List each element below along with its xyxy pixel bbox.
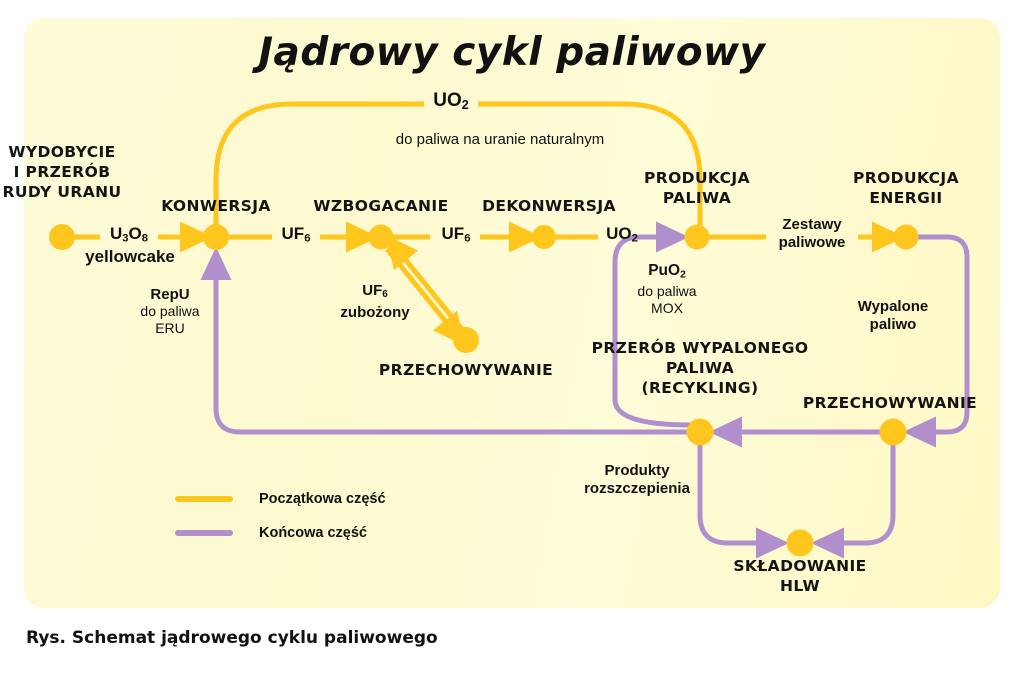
stage-line: PRZERÓB WYPALONEGO [590, 338, 810, 358]
stage-label-fuel-fab: PRODUKCJA PALIWA [627, 168, 767, 208]
node-reprocessing[interactable] [687, 419, 714, 446]
node-power-gen[interactable] [894, 225, 919, 250]
flow-label-uo2-top-sub: do paliwa na uranie naturalnym [330, 131, 670, 148]
flow-label-uo2-top: UO2 [424, 92, 478, 114]
stage-line: I PRZERÓB [0, 162, 142, 182]
stage-line: ENERGII [836, 188, 976, 208]
flow-label-uf6-b: UF6 [432, 225, 480, 247]
label-line: do paliwa [617, 283, 717, 300]
edge-reprocessing-hlw [700, 444, 772, 543]
legend-label-back-end: Końcowa część [259, 525, 367, 541]
stage-label-power-gen: PRODUKCJA ENERGII [836, 168, 976, 208]
node-enrichment[interactable] [369, 225, 394, 250]
legend-label-front-end: Początkowa część [259, 491, 386, 507]
stage-label-deconversion: DEKONWERSJA [474, 196, 624, 216]
label-line: MOX [617, 300, 717, 317]
stage-line: RUDY URANU [0, 182, 142, 202]
stage-line: PRODUKCJA [836, 168, 976, 188]
label-line: do paliwa [122, 303, 218, 320]
flow-label-fuel-assemblies: Zestawy paliwowe [766, 216, 858, 252]
flow-label-fission-products: Produkty rozszczepienia [566, 462, 708, 498]
node-hlw-disposal[interactable] [787, 530, 814, 557]
stage-label-reprocessing: PRZERÓB WYPALONEGO PALIWA (RECYKLING) [590, 338, 810, 398]
stage-line: PALIWA [627, 188, 767, 208]
edge-sfstorage-hlw [828, 444, 893, 543]
stage-label-mining: WYDOBYCIE I PRZERÓB RUDY URANU [0, 142, 142, 202]
label-line: rozszczepienia [566, 480, 708, 498]
legend: Początkowa część Końcowa część [175, 482, 386, 550]
legend-item-back-end: Końcowa część [175, 516, 386, 550]
label-line: Produkty [566, 462, 708, 480]
label-line: Zestawy [766, 216, 858, 234]
legend-item-front-end: Początkowa część [175, 482, 386, 516]
label-line: paliwo [835, 316, 951, 334]
node-deconversion[interactable] [532, 225, 556, 249]
flow-label-puo2: PuO2 do paliwa MOX [617, 262, 717, 317]
flow-label-uf6-depleted: UF6 zubożony [330, 282, 420, 322]
stage-line: PRZECHOWYWANIE [800, 393, 980, 413]
flow-label-uf6-a: UF6 [272, 225, 320, 247]
legend-swatch-front-end [175, 496, 233, 502]
node-uf6-storage[interactable] [453, 327, 479, 353]
flow-label-spent-fuel: Wypalone paliwo [835, 298, 951, 334]
label-line: Wypalone [835, 298, 951, 316]
node-fuel-fab[interactable] [685, 225, 710, 250]
stage-line: WYDOBYCIE [0, 142, 142, 162]
stage-line: PALIWA [590, 358, 810, 378]
flow-label-uo2-main: UO2 [598, 225, 646, 247]
stage-label-conversion: KONWERSJA [146, 196, 286, 216]
label-line: RepU [122, 286, 218, 303]
label-line: PuO2 [617, 262, 717, 283]
label-line: ERU [122, 320, 218, 337]
stage-line: HLW [720, 576, 880, 596]
page-title: Jądrowy cykl paliwowy [0, 30, 1024, 75]
stage-label-uf6-storage: PRZECHOWYWANIE [376, 360, 556, 380]
flow-label-u3o8: U3O8 [100, 225, 158, 247]
stage-line: SKŁADOWANIE [720, 556, 880, 576]
legend-swatch-back-end [175, 530, 233, 536]
stage-line: PRZECHOWYWANIE [376, 360, 556, 380]
flow-label-repu: RepU do paliwa ERU [122, 286, 218, 337]
node-conversion[interactable] [203, 224, 229, 250]
figure-caption: Rys. Schemat jądrowego cyklu paliwowego [26, 628, 438, 648]
label-line: UF6 [330, 282, 420, 304]
stage-line: DEKONWERSJA [474, 196, 624, 216]
stage-line: (RECYKLING) [590, 378, 810, 398]
stage-line: PRODUKCJA [627, 168, 767, 188]
stage-label-hlw-disposal: SKŁADOWANIE HLW [720, 556, 880, 596]
stage-label-sf-storage: PRZECHOWYWANIE [800, 393, 980, 413]
stage-line: KONWERSJA [146, 196, 286, 216]
label-line: paliwowe [766, 234, 858, 252]
flow-label-yellowcake: yellowcake [76, 248, 184, 265]
stage-label-enrichment: WZBOGACANIE [306, 196, 456, 216]
stage-line: WZBOGACANIE [306, 196, 456, 216]
label-line: zubożony [330, 304, 420, 322]
node-sf-storage[interactable] [880, 419, 907, 446]
node-mining[interactable] [49, 224, 75, 250]
